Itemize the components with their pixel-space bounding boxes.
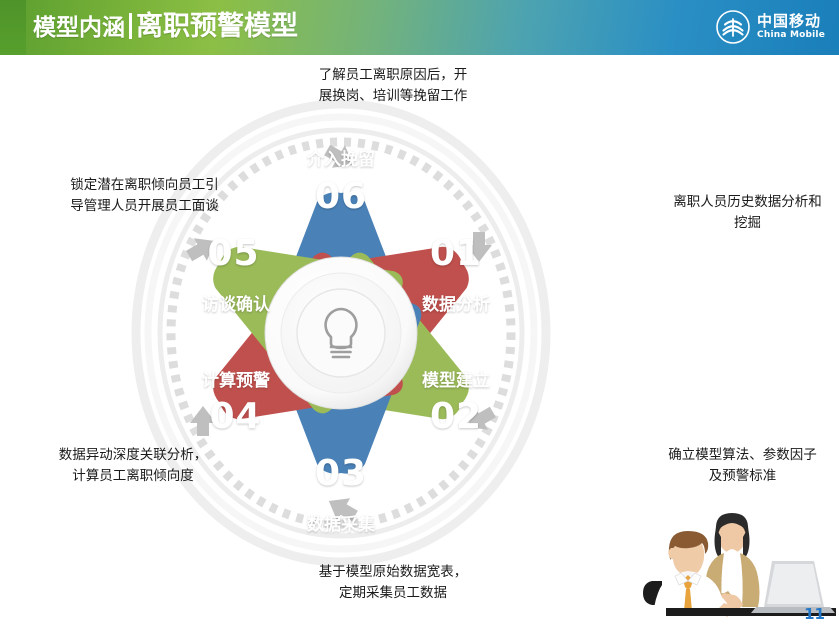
segment-01-title: 数据分析 xyxy=(396,290,516,315)
annotation-05: 锁定潜在离职倾向员工引 导管理人员开展员工面谈 xyxy=(22,175,267,217)
segment-03-title: 数据采集 xyxy=(276,510,406,535)
page-number: 11 xyxy=(804,605,825,623)
brand-name-en: China Mobile xyxy=(757,31,825,40)
page-header: 模型内涵离职预警模型 中国移动 China Mobile xyxy=(0,0,839,55)
brand-logo: 中国移动 China Mobile xyxy=(716,9,825,45)
segment-02-title: 模型建立 xyxy=(396,366,516,391)
slide-body: 介入挽留 06 01 数据分析 模型建立 02 03 数据采集 计算预警 04 … xyxy=(0,55,839,628)
annotation-06: 了解员工离职原因后，开 展换岗、培训等挽留工作 xyxy=(268,65,518,107)
china-mobile-logo-icon xyxy=(716,10,750,44)
segment-06-number: 06 xyxy=(276,176,406,217)
segment-03-number: 03 xyxy=(276,453,406,494)
title-divider xyxy=(129,13,132,39)
page-title: 模型内涵离职预警模型 xyxy=(33,9,298,46)
cycle-diagram: 介入挽留 06 01 数据分析 模型建立 02 03 数据采集 计算预警 04 … xyxy=(131,98,551,568)
segment-06-title: 介入挽留 xyxy=(276,145,406,170)
page-title-prefix: 模型内涵 xyxy=(33,15,125,41)
brand-logo-text: 中国移动 China Mobile xyxy=(757,14,825,40)
two-people-at-laptop-illustration xyxy=(636,493,839,618)
page-title-main: 离职预警模型 xyxy=(136,11,298,42)
brand-name-cn: 中国移动 xyxy=(757,14,825,29)
annotation-04: 数据异动深度关联分析， 计算员工离职倾向度 xyxy=(8,445,258,487)
segment-01-number: 01 xyxy=(411,233,501,274)
annotation-03: 基于模型原始数据宽表， 定期采集员工数据 xyxy=(268,562,518,604)
segment-05-title: 访谈确认 xyxy=(176,290,296,315)
annotation-02: 确立模型算法、参数因子 及预警标准 xyxy=(650,445,835,487)
segment-02-number: 02 xyxy=(411,396,501,437)
segment-04-title: 计算预警 xyxy=(176,366,296,391)
segment-05-number: 05 xyxy=(181,233,286,274)
annotation-01: 离职人员历史数据分析和 挖掘 xyxy=(655,192,839,234)
segment-04-number: 04 xyxy=(183,396,288,437)
header-accent-bar xyxy=(0,0,26,55)
